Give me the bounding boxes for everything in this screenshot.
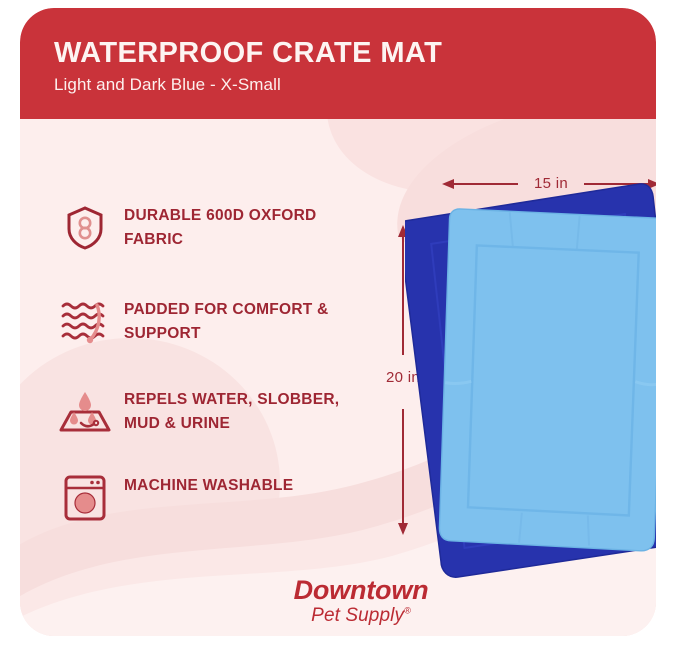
light-blue-crate-mat [439, 209, 656, 552]
page-title: WATERPROOF CRATE MAT [54, 38, 656, 69]
brand-tagline: Pet Supply® [256, 605, 466, 628]
feature-list: DURABLE 600D OXFORD FABRIC [56, 200, 376, 556]
brand-name: Downtown [256, 576, 466, 604]
water-repel-icon [56, 384, 114, 440]
brand-logo: Downtown Pet Supply® [256, 576, 466, 628]
shield-fabric-icon [56, 200, 114, 256]
feature-label: DURABLE 600D OXFORD FABRIC [124, 200, 376, 252]
stitching-needle-icon [56, 294, 114, 350]
feature-item: MACHINE WASHABLE [56, 470, 376, 526]
feature-label: PADDED FOR COMFORT & SUPPORT [124, 294, 376, 346]
infographic-card: WATERPROOF CRATE MAT Light and Dark Blue… [20, 8, 656, 636]
page-subtitle: Light and Dark Blue - X-Small [54, 75, 656, 95]
product-infographic: WATERPROOF CRATE MAT Light and Dark Blue… [0, 0, 679, 662]
header-banner: WATERPROOF CRATE MAT Light and Dark Blue… [20, 8, 656, 119]
feature-label: MACHINE WASHABLE [124, 470, 293, 498]
feature-label: REPELS WATER, SLOBBER, MUD & URINE [124, 384, 376, 436]
feature-item: DURABLE 600D OXFORD FABRIC [56, 200, 376, 256]
product-image [405, 183, 656, 578]
trademark-symbol: ® [404, 606, 411, 616]
feature-item: REPELS WATER, SLOBBER, MUD & URINE [56, 384, 376, 440]
washing-machine-icon [56, 470, 114, 526]
feature-item: PADDED FOR COMFORT & SUPPORT [56, 294, 376, 350]
brand-tagline-text: Pet Supply [311, 605, 404, 626]
